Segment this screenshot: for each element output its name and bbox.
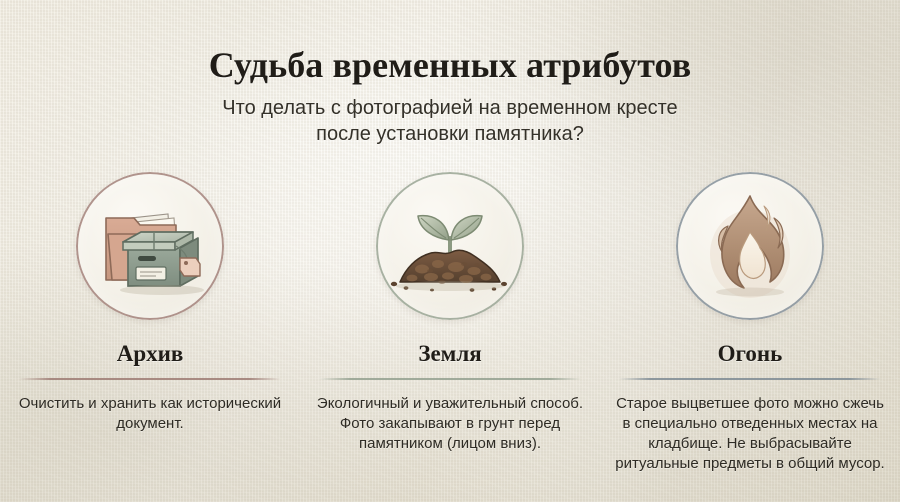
earth-description: Экологичный и уважительный способ. Фото … xyxy=(312,394,588,454)
card-fire: Огонь Старое выцветшее фото можно сжечь … xyxy=(600,172,900,474)
earth-ring xyxy=(376,172,524,320)
fire-divider xyxy=(619,378,881,380)
card-earth: Земля Экологичный и уважительный способ.… xyxy=(300,172,600,474)
page-title: Судьба временных атрибутов xyxy=(0,44,900,86)
card-archive: Архив Очистить и хранить как исторически… xyxy=(0,172,300,474)
fire-medallion xyxy=(676,172,824,320)
earth-medallion xyxy=(376,172,524,320)
archive-ring xyxy=(76,172,224,320)
fire-description: Старое выцветшее фото можно сжечь в спец… xyxy=(612,394,888,474)
subtitle-line-2: после установки памятника? xyxy=(0,121,900,147)
fire-title: Огонь xyxy=(718,340,783,368)
earth-divider xyxy=(319,378,581,380)
cards-row: Архив Очистить и хранить как исторически… xyxy=(0,172,900,474)
archive-divider xyxy=(19,378,281,380)
archive-description: Очистить и хранить как исторический доку… xyxy=(12,394,288,434)
infographic-slide: Судьба временных атрибутов Что делать с … xyxy=(0,0,900,502)
archive-medallion xyxy=(76,172,224,320)
page-subtitle: Что делать с фотографией на временном кр… xyxy=(0,95,900,147)
earth-title: Земля xyxy=(418,340,481,368)
subtitle-line-1: Что делать с фотографией на временном кр… xyxy=(0,95,900,121)
archive-title: Архив xyxy=(117,340,184,368)
fire-ring xyxy=(676,172,824,320)
header-block: Судьба временных атрибутов Что делать с … xyxy=(0,44,900,147)
